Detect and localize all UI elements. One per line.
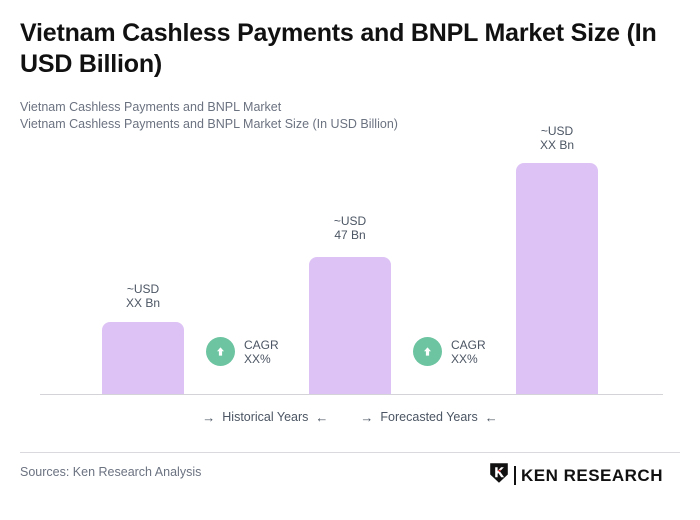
- legend-item-historical: → Historical Years ←: [202, 410, 328, 424]
- cagr-badge-1: CAGR XX%: [206, 337, 279, 366]
- arrow-left-icon: ←: [485, 411, 498, 424]
- bar-base-year[interactable]: [309, 257, 391, 395]
- arrow-right-icon: →: [202, 411, 215, 424]
- cagr-label-1: CAGR XX%: [244, 338, 279, 366]
- bar-value-label-2: ~USD 47 Bn: [309, 214, 391, 242]
- bar-value-label-3: ~USD XX Bn: [516, 124, 598, 152]
- chart-page: Vietnam Cashless Payments and BNPL Marke…: [0, 0, 700, 520]
- bar-forecasted[interactable]: [516, 163, 598, 395]
- arrow-up-icon: [413, 337, 442, 366]
- cagr-label-2: CAGR XX%: [451, 338, 486, 366]
- brand-separator: [514, 466, 516, 485]
- arrow-right-icon: →: [360, 411, 373, 424]
- arrow-left-icon: ←: [315, 411, 328, 424]
- brand-logo: KEN RESEARCH: [489, 462, 663, 489]
- legend-item-forecasted: → Forecasted Years ←: [360, 410, 497, 424]
- legend-label-historical: Historical Years: [222, 410, 308, 424]
- brand-wordmark: KEN RESEARCH: [521, 466, 663, 486]
- x-axis-line: [40, 394, 663, 395]
- period-legend: → Historical Years ← → Forecasted Years …: [0, 410, 700, 424]
- plot-area: ~USD XX Bn CAGR XX% ~USD 47 Bn CAGR XX%: [0, 0, 700, 440]
- arrow-up-icon: [206, 337, 235, 366]
- legend-label-forecasted: Forecasted Years: [380, 410, 477, 424]
- ken-research-shield-icon: [489, 462, 509, 489]
- cagr-badge-2: CAGR XX%: [413, 337, 486, 366]
- sources-text: Sources: Ken Research Analysis: [20, 465, 201, 479]
- bar-value-label-1: ~USD XX Bn: [102, 282, 184, 310]
- footer-divider: [20, 452, 680, 453]
- bar-historical[interactable]: [102, 322, 184, 395]
